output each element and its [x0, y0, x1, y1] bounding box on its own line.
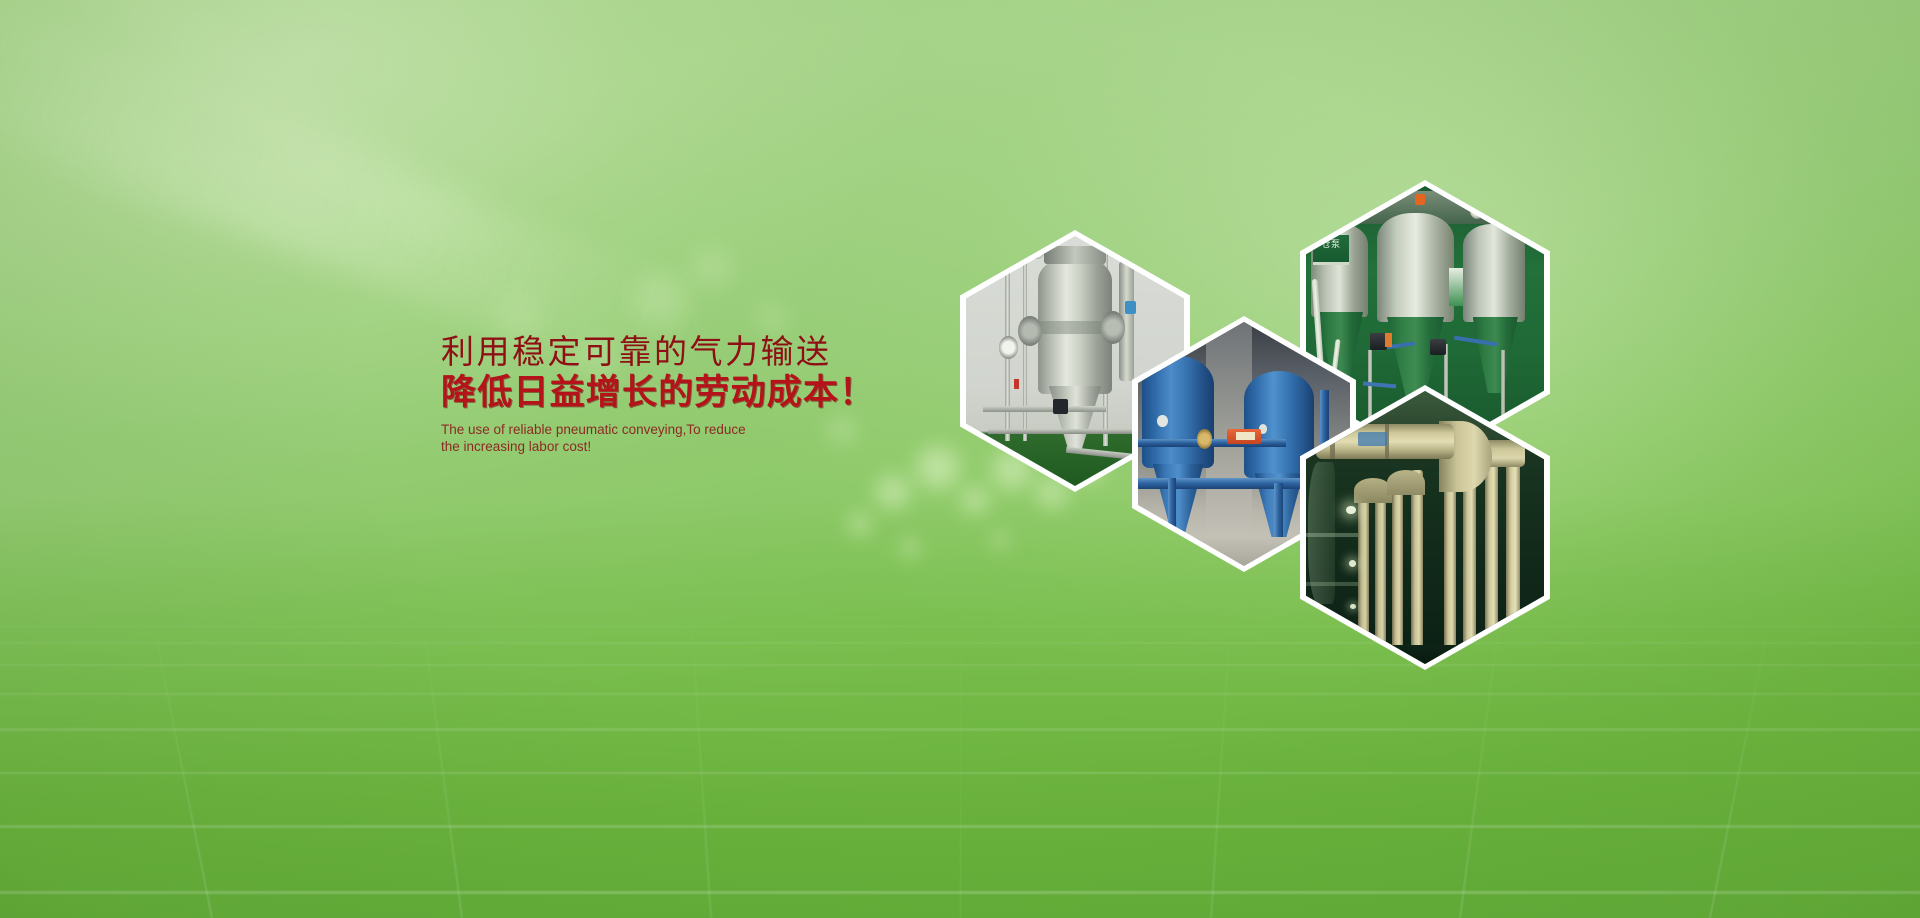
plant-sign-label: 仓泵	[1313, 235, 1349, 265]
hero-banner: 利用稳定可靠的气力输送 降低日益增长的劳动成本！ The use of reli…	[0, 0, 1920, 918]
banner-copy: 利用稳定可靠的气力输送 降低日益增长的劳动成本！ The use of reli…	[441, 334, 961, 455]
subtitle-block: The use of reliable pneumatic conveying,…	[441, 421, 961, 456]
hexagon-photo-cluster: 仓泵	[960, 180, 1660, 720]
headline-line-1: 利用稳定可靠的气力输送	[441, 334, 961, 371]
headline-line-2: 降低日益增长的劳动成本！	[441, 373, 961, 414]
subtitle-line-2: the increasing labor cost!	[441, 438, 961, 455]
subtitle-line-1: The use of reliable pneumatic conveying,…	[441, 421, 961, 438]
